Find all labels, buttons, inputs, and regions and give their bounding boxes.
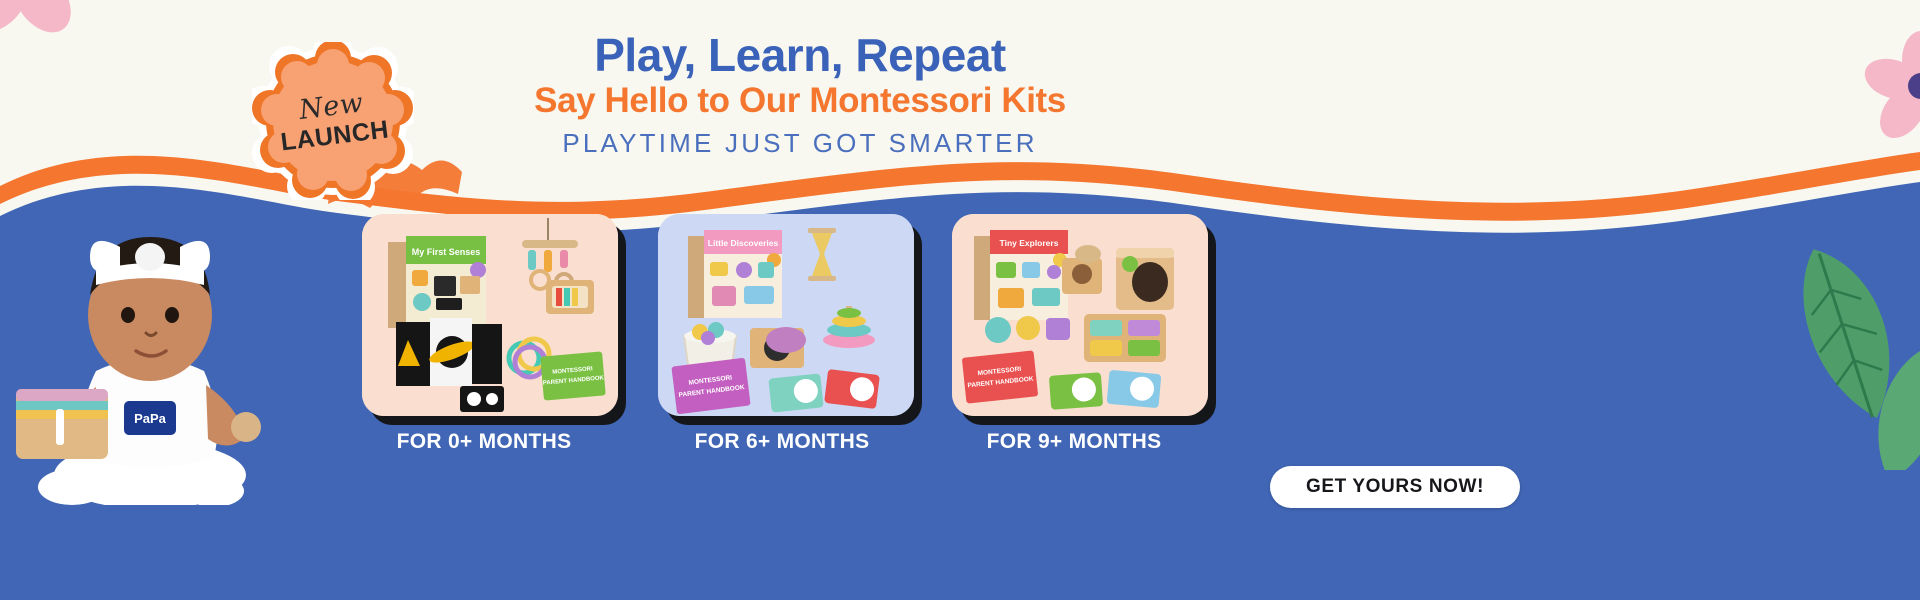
product-card-0-months[interactable]: My First Senses bbox=[362, 214, 618, 416]
svg-text:Little Discoveries: Little Discoveries bbox=[708, 238, 779, 248]
promo-banner: PaPa bbox=[0, 0, 1920, 600]
headline-primary: Play, Learn, Repeat bbox=[480, 32, 1120, 79]
headline-secondary: Say Hello to Our Montessori Kits bbox=[480, 83, 1120, 120]
card-caption-0-months: FOR 0+ MONTHS bbox=[356, 430, 612, 454]
new-launch-badge[interactable]: New LAUNCH bbox=[252, 42, 414, 200]
badge-block-word: LAUNCH bbox=[279, 117, 390, 155]
svg-text:Tiny Explorers: Tiny Explorers bbox=[1000, 238, 1059, 248]
card-caption-9-months: FOR 9+ MONTHS bbox=[946, 430, 1202, 454]
product-card-6-months[interactable]: Little Discoveries bbox=[658, 214, 914, 416]
headline-tagline: PLAYTIME JUST GOT SMARTER bbox=[480, 130, 1120, 156]
svg-text:My First Senses: My First Senses bbox=[412, 247, 481, 257]
baby-photo: PaPa bbox=[0, 175, 330, 505]
card-caption-6-months: FOR 6+ MONTHS bbox=[654, 430, 910, 454]
svg-text:PaPa: PaPa bbox=[134, 411, 167, 426]
product-card-row: My First Senses bbox=[362, 214, 1222, 474]
product-card-9-months[interactable]: Tiny Explorers bbox=[952, 214, 1208, 416]
get-yours-now-button[interactable]: GET YOURS NOW! bbox=[1270, 466, 1520, 508]
headline-block: Play, Learn, Repeat Say Hello to Our Mon… bbox=[480, 32, 1120, 156]
